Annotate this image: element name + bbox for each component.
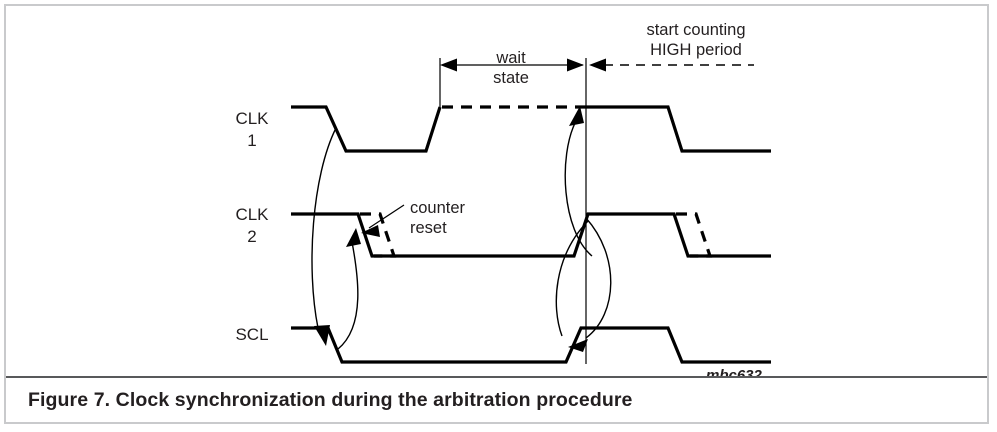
- figure-caption: Figure 7. Clock synchronization during t…: [6, 378, 987, 422]
- signal-label-clk2-line1: CLK: [235, 205, 269, 224]
- source-tag: mbc632: [706, 367, 763, 376]
- curve-clk1-to-scl-arrowhead: [314, 325, 330, 346]
- waveform-clk1-solid-right: [586, 107, 771, 151]
- annotation-start-counting-line1: start counting: [646, 21, 745, 39]
- curve-scl-sweep-path: [556, 221, 588, 336]
- curve-scl-to-clk2-arrowhead: [346, 228, 361, 247]
- annotation-counter-reset: counter reset: [410, 199, 466, 237]
- curve-clk2-to-clk1: [565, 106, 592, 256]
- high-period-arrow-left: [589, 59, 606, 72]
- annotation-counter-reset-line2: reset: [410, 219, 447, 237]
- signal-label-clk2: CLK 2: [235, 205, 269, 246]
- curve-scl-to-clk2-path: [338, 242, 358, 349]
- annotation-wait-state: wait state: [493, 49, 529, 87]
- annotation-start-counting-line2: HIGH period: [650, 41, 742, 59]
- timing-diagram-svg: CLK 1 CLK 2 SCL wait state start countin…: [6, 6, 987, 376]
- signal-label-clk2-line2: 2: [247, 227, 256, 246]
- signal-label-clk1-line1: CLK: [235, 109, 269, 128]
- signal-label-scl-line1: SCL: [235, 325, 268, 344]
- figure-page: CLK 1 CLK 2 SCL wait state start countin…: [0, 0, 997, 432]
- wait-state-arrow-left: [440, 59, 457, 72]
- pointer-counter-reset-line: [369, 205, 404, 228]
- figure-caption-text: Figure 7. Clock synchronization during t…: [6, 389, 632, 412]
- signal-label-clk1: CLK 1: [235, 109, 269, 150]
- timing-diagram: CLK 1 CLK 2 SCL wait state start countin…: [6, 6, 987, 376]
- waveform-clk2: [291, 214, 771, 256]
- curve-clk1-to-scl: [312, 128, 336, 346]
- waveform-scl-solid: [291, 328, 771, 362]
- annotation-start-counting: start counting HIGH period: [646, 21, 745, 59]
- annotation-counter-reset-line1: counter: [410, 199, 466, 217]
- curve-clk2-to-clk1-arrowhead: [569, 106, 584, 126]
- signal-label-clk1-line2: 1: [247, 131, 256, 150]
- curve-clk2-to-clk1-path: [565, 121, 592, 256]
- curve-scl-sweep: [556, 221, 588, 336]
- annotation-wait-state-line2: state: [493, 69, 529, 87]
- figure-frame: CLK 1 CLK 2 SCL wait state start countin…: [4, 4, 989, 424]
- waveform-scl: [291, 328, 771, 362]
- waveform-clk1-solid-left: [291, 107, 440, 151]
- wait-state-arrow-right: [567, 59, 584, 72]
- annotation-wait-state-line1: wait: [495, 49, 526, 67]
- signal-label-scl: SCL: [235, 325, 268, 344]
- curve-clk1-to-scl-path: [312, 128, 336, 328]
- curve-scl-to-clk2: [338, 228, 361, 349]
- waveform-clk1: [291, 107, 771, 151]
- curve-clk2-to-scl-path: [586, 218, 611, 338]
